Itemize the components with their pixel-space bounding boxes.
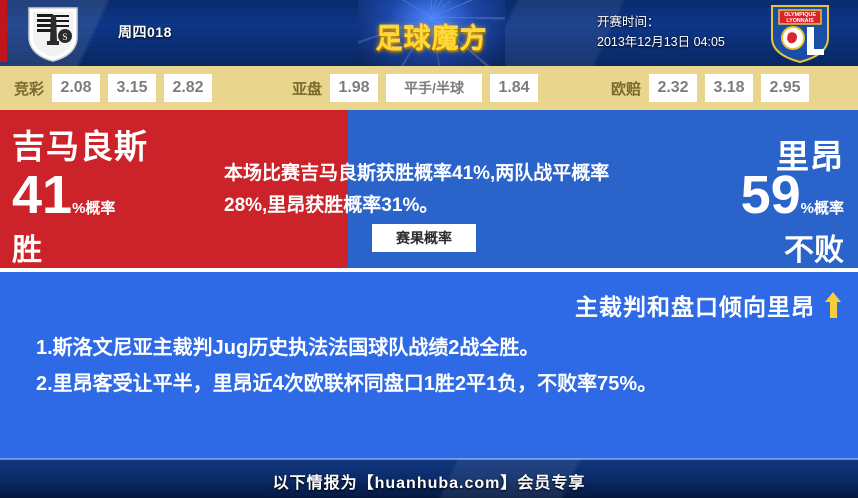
arrow-up-icon <box>825 292 842 318</box>
probability-summary: 本场比赛吉马良斯获胜概率41%,两队战平概率28%,里昂获胜概率31%。 <box>224 158 619 222</box>
away-probability-value: 59%概率 <box>741 170 844 220</box>
odds-label-oupei: 欧赔 <box>611 78 641 99</box>
away-result-label: 不败 <box>784 225 844 269</box>
away-team-crest-icon: OLYMPIQUE LYONNAIS <box>769 4 831 64</box>
odds-jingcai-away[interactable]: 2.82 <box>164 74 212 102</box>
site-logo[interactable]: 足球魔方 <box>358 0 505 66</box>
kickoff-time: 开赛时间： 2013年12月13日 04:05 <box>597 12 725 52</box>
analysis-panel: 主裁判和盘口倾向里昂 1.斯洛文尼亚主裁判Jug历史执法法国球队战绩2战全胜。 … <box>0 272 858 458</box>
header-bar: S 周四018 足球魔方 开赛时间： 2013年12月13日 04:05 OLY… <box>0 0 858 66</box>
infographic-root: S 周四018 足球魔方 开赛时间： 2013年12月13日 04:05 OLY… <box>0 0 858 498</box>
odds-group-yapan: 亚盘 1.98 平手/半球 1.84 <box>292 66 538 110</box>
odds-oupei-away[interactable]: 2.95 <box>761 74 809 102</box>
kickoff-value: 2013年12月13日 04:05 <box>597 32 725 52</box>
home-probability-number: 41 <box>12 165 72 225</box>
svg-text:S: S <box>62 32 67 42</box>
svg-text:LYONNAIS: LYONNAIS <box>786 18 814 24</box>
away-probability-suffix: %概率 <box>801 200 844 217</box>
odds-yapan-away[interactable]: 1.84 <box>490 74 538 102</box>
odds-jingcai-draw[interactable]: 3.15 <box>108 74 156 102</box>
odds-yapan-handicap[interactable]: 平手/半球 <box>386 74 482 102</box>
analysis-note-1: 1.斯洛文尼亚主裁判Jug历史执法法国球队战绩2战全胜。 <box>36 330 826 366</box>
odds-label-jingcai: 竞彩 <box>14 78 44 99</box>
home-probability-value: 41%概率 <box>12 170 115 220</box>
footer-text: 以下情报为【huanhuba.com】会员专享 <box>0 469 858 493</box>
odds-label-yapan: 亚盘 <box>292 78 322 99</box>
probability-band: 吉马良斯 41%概率 胜 赛果概率 本场比赛吉马良斯获胜概率41%,两队战平概率… <box>0 110 858 268</box>
home-team-crest-icon: S <box>25 5 81 63</box>
kickoff-label: 开赛时间： <box>597 12 725 32</box>
odds-jingcai-home[interactable]: 2.08 <box>52 74 100 102</box>
analysis-notes: 1.斯洛文尼亚主裁判Jug历史执法法国球队战绩2战全胜。 2.里昂客受让平半，里… <box>36 330 826 402</box>
odds-oupei-home[interactable]: 2.32 <box>649 74 697 102</box>
odds-group-oupei: 欧赔 2.32 3.18 2.95 <box>611 66 809 110</box>
footer-bar: 以下情报为【huanhuba.com】会员专享 <box>0 458 858 498</box>
away-probability-number: 59 <box>741 165 801 225</box>
tab-result-probability[interactable]: 赛果概率 <box>372 224 476 252</box>
odds-yapan-home[interactable]: 1.98 <box>330 74 378 102</box>
odds-oupei-draw[interactable]: 3.18 <box>705 74 753 102</box>
home-probability-suffix: %概率 <box>72 200 115 217</box>
analysis-headline: 主裁判和盘口倾向里昂 <box>575 288 815 322</box>
analysis-note-2: 2.里昂客受让平半，里昂近4次欧联杯同盘口1胜2平1负，不败率75%。 <box>36 366 826 402</box>
home-result-label: 胜 <box>12 225 42 269</box>
logo-text: 足球魔方 <box>358 17 505 56</box>
match-number: 周四018 <box>118 22 172 42</box>
analysis-headline-row: 主裁判和盘口倾向里昂 <box>575 288 842 322</box>
odds-strip: 竞彩 2.08 3.15 2.82 亚盘 1.98 平手/半球 1.84 欧赔 … <box>0 66 858 110</box>
left-red-edge <box>0 0 7 62</box>
odds-group-jingcai: 竞彩 2.08 3.15 2.82 <box>14 66 212 110</box>
home-team-name: 吉马良斯 <box>12 130 148 164</box>
